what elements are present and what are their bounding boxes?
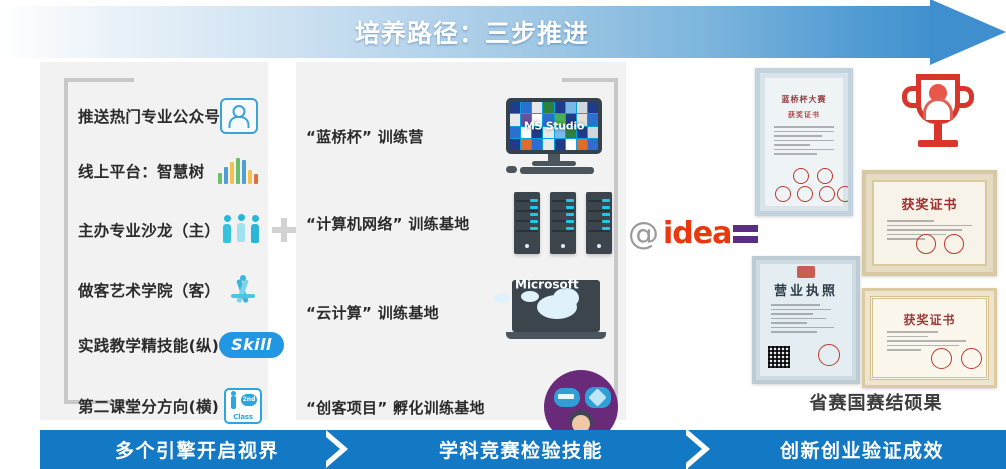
left-item-3[interactable]: 做客艺术学院（客）: [78, 274, 260, 306]
left-item-4[interactable]: 实践教学精技能(纵) Skill: [78, 332, 262, 358]
mid-item-0[interactable]: “蓝桥杯” 训练营 MS Studio: [306, 98, 602, 174]
certificate-seal: [944, 234, 964, 254]
monitor-screen-text: MS Studio: [524, 120, 584, 133]
certificate-seal: [793, 168, 809, 184]
certificate-business-license-title: 营业执照: [760, 280, 852, 299]
certificate-seal: [775, 186, 791, 202]
infographic-root: 培养路径：三步推进 推送热门专业公众号 线上平台：智慧树: [0, 0, 1006, 469]
page-title: 培养路径：三步推进: [0, 6, 944, 58]
certificate-award-2-body: [887, 331, 973, 354]
certificate-business-license: 营业执照: [752, 256, 860, 384]
certificate-seal: [837, 186, 853, 202]
mid-panel: “蓝桥杯” 训练营 MS Studio: [296, 62, 626, 420]
mid-item-2[interactable]: “云计算” 训练基地 Microsoft: [306, 280, 606, 344]
person-card-icon: [220, 98, 258, 134]
three-people-icon: [222, 214, 262, 246]
results-caption: 省赛国赛结硕果: [752, 389, 1000, 415]
left-item-0-label: 推送热门专业公众号: [78, 105, 220, 127]
left-item-1-label: 线上平台：智慧树: [78, 160, 204, 182]
certificate-award-1-paper: 获奖证书: [872, 180, 987, 266]
footer-step-1-label: 学科竞赛检验技能: [439, 436, 603, 463]
certificate-award-1-title: 获奖证书: [874, 194, 985, 213]
certificate-business-license-body: [771, 304, 841, 336]
left-item-1[interactable]: 线上平台：智慧树: [78, 158, 258, 184]
license-emblem-icon: [797, 266, 815, 278]
desktop-monitor-icon: MS Studio: [506, 98, 602, 174]
mid-item-1-label: “计算机网络” 训练基地: [306, 213, 470, 234]
mid-item-0-label: “蓝桥杯” 训练营: [306, 126, 424, 147]
certificate-business-license-paper: 营业执照: [760, 264, 852, 376]
certificate-seal: [931, 348, 952, 369]
idea-logo-bars-icon: [733, 225, 758, 243]
certificate-seal: [819, 186, 835, 202]
certificate-lanqiaobei-title: 蓝桥杯大赛: [765, 94, 843, 105]
left-item-2[interactable]: 主办专业沙龙（主）: [78, 214, 262, 246]
server-racks-icon: [514, 192, 612, 254]
mid-item-2-label: “云计算” 训练基地: [306, 302, 439, 323]
left-item-0[interactable]: 推送热门专业公众号: [78, 98, 258, 134]
certificate-seal: [961, 348, 982, 369]
idea-logo-text: idea: [663, 219, 731, 249]
left-item-5-label: 第二课堂分方向(横): [78, 395, 219, 417]
footer-step-2[interactable]: 创新创业验证成效: [718, 430, 1006, 469]
certificate-lanqiaobei-paper: 蓝桥杯大赛 获奖证书: [765, 78, 843, 206]
header-arrow-banner: 培养路径：三步推进: [0, 6, 1006, 58]
footer-step-1[interactable]: 学科竞赛检验技能: [356, 430, 686, 469]
certificate-award-2-title: 获奖证书: [873, 311, 986, 328]
at-symbol-icon: @: [628, 219, 659, 250]
certificate-seal: [916, 234, 936, 254]
qr-code-icon: [768, 346, 790, 368]
mid-item-1[interactable]: “计算机网络” 训练基地: [306, 192, 612, 254]
certificate-seal: [818, 344, 840, 366]
footer-step-0[interactable]: 多个引擎开启视界: [40, 430, 354, 469]
second-class-badge-text: 2nd: [241, 394, 257, 406]
compass-icon: [226, 274, 260, 306]
certificate-lanqiaobei-subtitle: 获奖证书: [765, 110, 843, 120]
left-panel: 推送热门专业公众号 线上平台：智慧树 主办专业沙龙（主）: [40, 62, 268, 420]
certificate-lanqiaobei: 蓝桥杯大赛 获奖证书: [755, 68, 853, 216]
idea-logo: @ idea: [628, 212, 746, 256]
left-item-5[interactable]: 第二课堂分方向(横) 2nd Class: [78, 388, 262, 424]
certificate-lanqiaobei-body: [774, 126, 833, 158]
left-item-2-label: 主办专业沙龙（主）: [78, 219, 220, 241]
skill-badge-icon: Skill: [219, 332, 284, 358]
second-class-icon: 2nd Class: [224, 388, 262, 424]
left-item-3-label: 做客艺术学院（客）: [78, 279, 220, 301]
certificate-seal: [797, 186, 813, 202]
footer-step-2-label: 创新创业验证成效: [780, 436, 944, 463]
plus-icon: [272, 218, 296, 242]
certificate-award-2: 获奖证书: [862, 288, 997, 388]
footer-step-banner: 多个引擎开启视界 学科竞赛检验技能 创新创业验证成效: [40, 430, 1006, 469]
bar-chart-icon: [218, 158, 258, 184]
footer-chevron-1-icon: [326, 430, 356, 469]
trophy-person-icon: [900, 74, 976, 166]
footer-chevron-2-icon: [688, 430, 718, 469]
left-item-4-label: 实践教学精技能(纵): [78, 334, 219, 356]
mid-item-3-label: “创客项目” 孵化训练基地: [306, 397, 485, 418]
certificate-award-1: 获奖证书: [862, 170, 997, 276]
certificate-award-2-paper: 获奖证书: [870, 296, 989, 380]
second-class-caption: Class: [228, 413, 258, 421]
certificate-seal: [817, 168, 833, 184]
laptop-cloud-icon: Microsoft: [506, 280, 606, 344]
footer-step-0-label: 多个引擎开启视界: [115, 436, 279, 463]
